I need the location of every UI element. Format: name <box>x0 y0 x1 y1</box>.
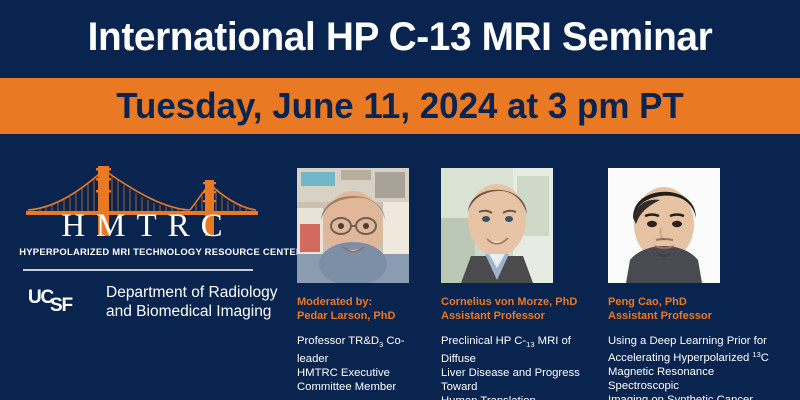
speaker-title-line-4: Imaging on Synthetic Cancer Datasets <box>608 393 788 400</box>
superscript-13: 13 <box>752 350 760 359</box>
speaker-title-line-3: Magnetic Resonance Spectroscopic <box>608 365 788 393</box>
speaker-card-2: Cornelius von Morze, PhD Assistant Profe… <box>441 168 591 400</box>
speaker-photo-1 <box>297 168 409 283</box>
ucsf-logo-row: UC SF Department of Radiology and Biomed… <box>28 283 268 327</box>
speaker-fullname-2: Cornelius von Morze, PhD <box>441 296 591 310</box>
logo-column: HMTRC HYPERPOLARIZED MRI TECHNOLOGY RESO… <box>0 140 285 400</box>
speaker-title-2: Preclinical HP C-13 MRI of Diffuse Liver… <box>441 334 591 400</box>
speaker-fullname-3: Peng Cao, PhD <box>608 296 788 310</box>
speaker-title-line-3: Committee Member <box>297 380 421 394</box>
speaker-name-2: Cornelius von Morze, PhD Assistant Profe… <box>441 296 591 323</box>
speaker-title-line-2: Accelerating Hyperpolarized 13C <box>608 348 788 365</box>
ucsf-department-line-1: Department of Radiology <box>106 283 277 302</box>
speaker-fullname-1: Pedar Larson, PhD <box>297 310 421 324</box>
speaker-title-line-2: HMTRC Executive <box>297 366 421 380</box>
speaker-name-3: Peng Cao, PhD Assistant Professor <box>608 296 788 323</box>
seminar-date: Tuesday, June 11, 2024 at 3 pm PT <box>12 78 788 134</box>
speaker-title-line-1: Preclinical HP C-13 MRI of Diffuse <box>441 334 591 366</box>
speaker-title-line-3: Human Translation <box>441 394 591 400</box>
subscript-13: 13 <box>526 340 534 349</box>
svg-text:SF: SF <box>50 295 72 316</box>
speaker-title-line-2: Liver Disease and Progress Toward <box>441 366 591 394</box>
speaker-title-3: Using a Deep Learning Prior for Accelera… <box>608 334 788 400</box>
ucsf-department-name: Department of Radiology and Biomedical I… <box>106 283 277 321</box>
golden-gate-bridge-icon <box>26 164 258 238</box>
speaker-photo-2 <box>441 168 553 283</box>
ucsf-department-line-2: and Biomedical Imaging <box>106 302 277 321</box>
date-banner: Tuesday, June 11, 2024 at 3 pm PT <box>0 78 800 134</box>
title-banner: International HP C-13 MRI Seminar <box>0 0 800 78</box>
speaker-role-label-1: Moderated by: <box>297 296 421 310</box>
speaker-position-2: Assistant Professor <box>441 310 591 324</box>
hmtrc-tagline: HYPERPOLARIZED MRI TECHNOLOGY RESOURCE C… <box>19 247 265 259</box>
seminar-poster: International HP C-13 MRI Seminar Tuesda… <box>0 0 800 400</box>
speaker-photo-3 <box>608 168 720 283</box>
speaker-title-line-1: Professor TR&D3 Co-leader <box>297 334 421 366</box>
speaker-title-line-1: Using a Deep Learning Prior for <box>608 334 788 348</box>
page-title: International HP C-13 MRI Seminar <box>12 8 788 66</box>
logo-divider <box>23 269 253 271</box>
speaker-card-1: Moderated by: Pedar Larson, PhD Professo… <box>297 168 421 394</box>
speaker-position-3: Assistant Professor <box>608 310 788 324</box>
speaker-title-1: Professor TR&D3 Co-leader HMTRC Executiv… <box>297 334 421 394</box>
speaker-card-3: Peng Cao, PhD Assistant Professor Using … <box>608 168 788 400</box>
speaker-name-1: Moderated by: Pedar Larson, PhD <box>297 296 421 323</box>
ucsf-wordmark-icon: UC SF <box>28 286 96 318</box>
